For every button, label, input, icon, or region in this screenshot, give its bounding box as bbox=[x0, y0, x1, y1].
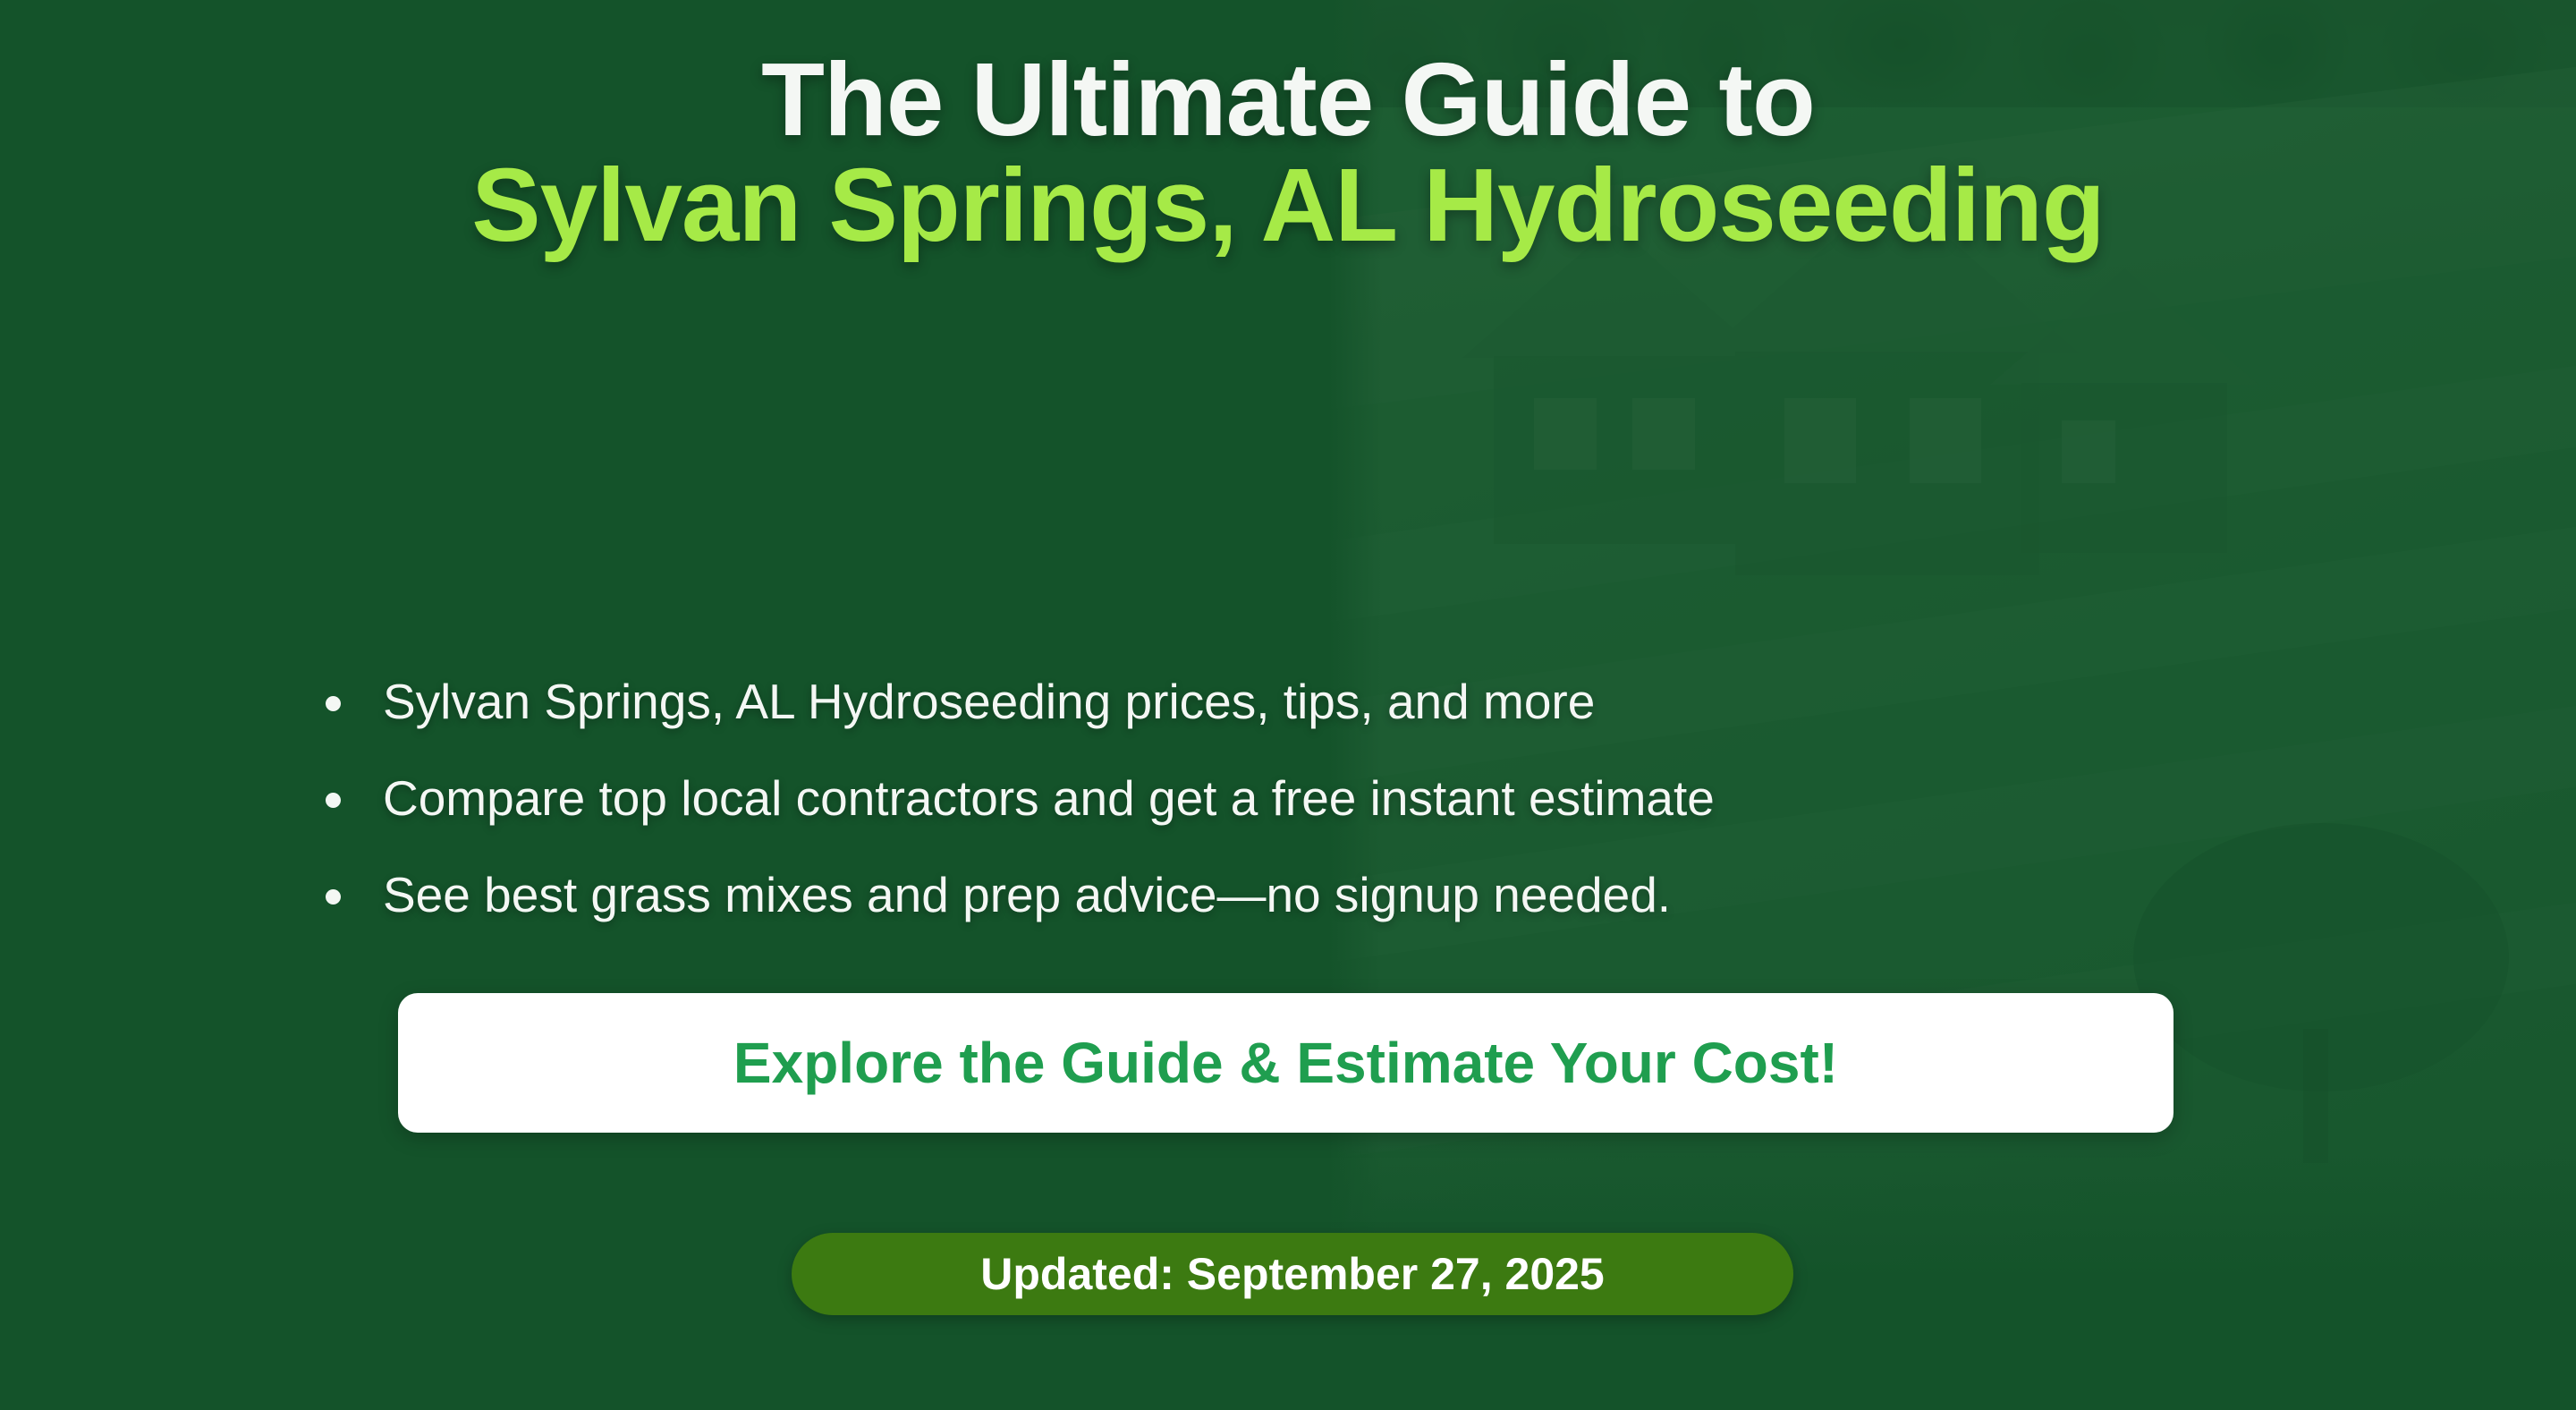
updated-date-badge: Updated: September 27, 2025 bbox=[792, 1233, 1793, 1315]
list-item: See best grass mixes and prep advice—no … bbox=[322, 870, 2379, 922]
cta-label: Explore the Guide & Estimate Your Cost! bbox=[733, 1030, 1838, 1096]
hero-content: The Ultimate Guide to Sylvan Springs, AL… bbox=[0, 0, 2576, 1410]
benefits-list: Sylvan Springs, AL Hydroseeding prices, … bbox=[322, 676, 2379, 965]
page-title: The Ultimate Guide to Sylvan Springs, AL… bbox=[0, 47, 2576, 259]
list-item: Sylvan Springs, AL Hydroseeding prices, … bbox=[322, 676, 2379, 728]
hero-banner: The Ultimate Guide to Sylvan Springs, AL… bbox=[0, 0, 2576, 1410]
updated-date-label: Updated: September 27, 2025 bbox=[980, 1248, 1605, 1300]
explore-guide-cta-button[interactable]: Explore the Guide & Estimate Your Cost! bbox=[398, 993, 2173, 1133]
headline-line-1: The Ultimate Guide to bbox=[0, 47, 2576, 152]
headline-line-2: Sylvan Springs, AL Hydroseeding bbox=[0, 152, 2576, 258]
list-item: Compare top local contractors and get a … bbox=[322, 773, 2379, 825]
